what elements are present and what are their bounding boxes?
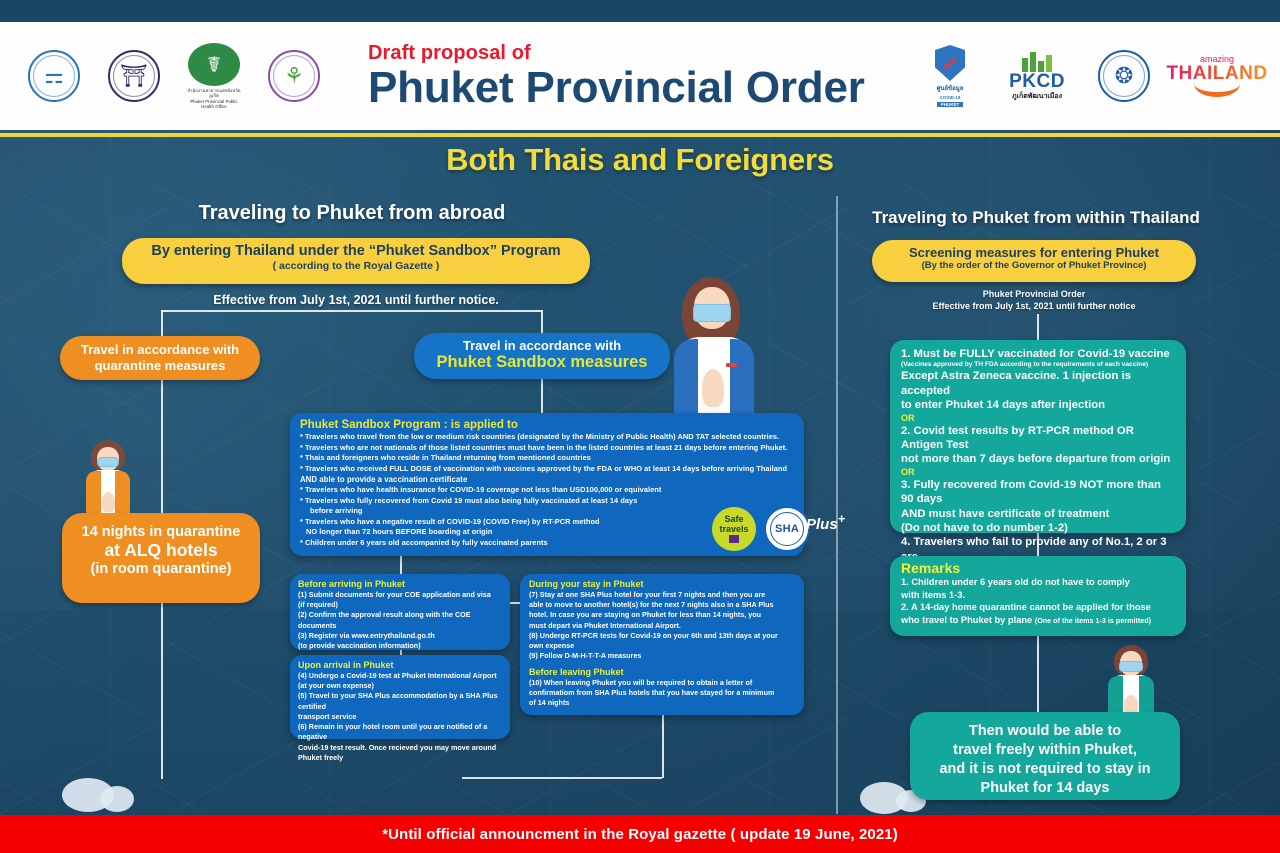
thailand-swoosh-icon (1194, 84, 1240, 97)
connector-vert-quarantine-bottom (161, 603, 163, 778)
list-item: able to move to another hotel(s) for the… (529, 600, 795, 610)
sandbox-program-pill-line2: ( according to the Royal Gazette ) (122, 260, 590, 272)
connector-vert-then-able (1037, 636, 1039, 712)
list-item: (5) Travel to your SHA Plus accommodatio… (298, 691, 502, 711)
quarantine-measures-line1: Travel in accordance with (60, 342, 260, 358)
list-item: (4) Undergo a Covid-19 test at Phuket In… (298, 671, 502, 681)
pkcd-bars-icon (1022, 50, 1052, 72)
before-leaving-title: Before leaving Phuket (529, 667, 795, 677)
list-item: (9) Follow D-M-H-T-T-A measures (529, 651, 795, 661)
list-item: (10) When leaving Phuket you will be req… (529, 678, 795, 688)
quarantine-staff-illustration (78, 440, 138, 518)
sha-badge-icon: SHA (764, 506, 810, 552)
remarks-item-2b: who travel to Phuket by plane (901, 615, 1032, 625)
list-item: of 14 nights (529, 698, 795, 708)
sandbox-measures-line2: Phuket Sandbox measures (414, 353, 670, 371)
screening-pill-line1: Screening measures for entering Phuket (872, 245, 1196, 260)
public-health-seal-icon: ☤ สำนักงานสาธารณสุขจังหวัดภูเก็ตPhuket P… (186, 43, 242, 109)
list-item: must depart via Phuket International Air… (529, 621, 795, 631)
list-item: (8) Undergo RT-PCR tests for Covid-19 on… (529, 631, 795, 641)
connector-vert-before (400, 556, 402, 574)
connector-vert-screening (1037, 314, 1039, 340)
order-note-line2: Effective from July 1st, 2021 until furt… (872, 300, 1196, 312)
quarantine-measures-box: Travel in accordance with quarantine mea… (60, 336, 260, 380)
connector-vert-quarantine (161, 380, 163, 513)
list-item: hotel. In case you are staying on Phuket… (529, 610, 795, 620)
list-item: confirmatiom from SHA Plus hotels that y… (529, 688, 795, 698)
pkcd-logo-icon: PKCD ภูเก็ตพัฒนาเมือง (1006, 43, 1068, 109)
before-arriving-title: Before arriving in Phuket (298, 579, 502, 589)
alq-line2: at ALQ hotels (62, 540, 260, 561)
connector-vert-left-top (161, 310, 163, 336)
safe-travels-building-icon (729, 535, 739, 543)
alq-quarantine-box: 14 nights in quarantine at ALQ hotels (i… (62, 513, 260, 603)
header-bar: ⚎ ⛩ ☤ สำนักงานสาธารณสุขจังหวัดภูเก็ตPhuk… (0, 22, 1280, 130)
list-item: *Travelers who have health insurance for… (300, 485, 794, 496)
royal-thai-seal-icon: ❂ (1096, 43, 1152, 109)
right-order-note: Phuket Provincial Order Effective from J… (872, 288, 1196, 312)
public-health-seal-caption: สำนักงานสาธารณสุขจังหวัดภูเก็ตPhuket Pro… (186, 88, 242, 109)
then-able-line1: Then would be able to (910, 722, 1180, 741)
covid-center-label-en: COVID-19 (940, 95, 961, 100)
screening-measures-pill: Screening measures for entering Phuket (… (872, 240, 1196, 282)
screening-item-3c: (Do not have to do number 1-2) (901, 521, 1176, 535)
list-item: own expense (529, 641, 795, 651)
remarks-panel: Remarks 1. Children under 6 years old do… (890, 556, 1186, 636)
remarks-item-2-row: who travel to Phuket by plane (One of th… (901, 614, 1176, 626)
column-divider (836, 196, 838, 814)
screening-item-3: 3. Fully recovered from Covid-19 NOT mor… (901, 478, 1176, 507)
screening-item-1b: Except Astra Zeneca vaccine. 1 injection… (901, 369, 1176, 398)
quarantine-measures-line2: quarantine measures (60, 358, 260, 374)
safe-travels-line2: travels (719, 525, 748, 534)
during-stay-panel: During your stay in Phuket (7) Stay at o… (520, 574, 804, 715)
list-item: (at your own expense) (298, 681, 502, 691)
list-item: Phuket freely (298, 753, 502, 763)
sandbox-program-pill-line1: By entering Thailand under the “Phuket S… (122, 243, 590, 259)
screening-item-2b: not more than 7 days before departure fr… (901, 452, 1176, 466)
sha-plus-label: Plus+ (806, 512, 845, 533)
then-able-line4: Phuket for 14 days (910, 779, 1180, 798)
list-item: *Thais and foreigners who reside in Thai… (300, 453, 794, 464)
remarks-item-1b: with items 1-3. (901, 589, 1176, 601)
alq-line3: (in room quarantine) (62, 561, 260, 577)
phuket-city-seal-icon: ⚘ (266, 43, 322, 109)
upon-arrival-list: (4) Undergo a Covid-19 test at Phuket In… (298, 671, 502, 763)
thailand-label: THAILAND (1166, 64, 1267, 83)
connector-node-bottom-left (161, 777, 163, 779)
connector-vert-right-top (541, 310, 543, 333)
connector-horiz-during (510, 602, 520, 604)
then-able-to-travel-box: Then would be able to travel freely with… (910, 712, 1180, 800)
list-item: (6) Remain in your hotel room until you … (298, 722, 502, 742)
list-item: (7) Stay at one SHA Plus hotel for your … (529, 590, 795, 600)
list-item: AND able to provide a vaccination certif… (300, 474, 794, 485)
welcome-staff-illustration (668, 277, 758, 415)
infographic-page: ⚎ ⛩ ☤ สำนักงานสาธารณสุขจังหวัดภูเก็ตPhuk… (0, 0, 1280, 853)
list-item: (if required) (298, 600, 502, 610)
sandbox-measures-line1: Travel in accordance with (414, 338, 670, 353)
list-item: *Travelers who received FULL DOSE of vac… (300, 464, 794, 475)
connector-vert-sandbox (541, 379, 543, 413)
before-arriving-list: (1) Submit documents for your COE applic… (298, 590, 502, 651)
connector-vert-to-provinces (662, 715, 664, 778)
during-stay-title: During your stay in Phuket (529, 579, 795, 589)
banner-rule (0, 133, 1280, 137)
covid-center-label-phuket: PHUKET (937, 102, 964, 107)
before-leaving-list: (10) When leaving Phuket you will be req… (529, 678, 795, 709)
remarks-item-2-fine: (One of the items 1-3 is permitted) (1035, 616, 1151, 625)
draft-label: Draft proposal of (368, 42, 865, 65)
remarks-item-1: 1. Children under 6 years old do not hav… (901, 576, 1176, 588)
list-item: transport service (298, 712, 502, 722)
then-able-line2: travel freely within Phuket, (910, 741, 1180, 760)
screening-or-2: OR (901, 467, 1176, 478)
before-arriving-panel: Before arriving in Phuket (1) Submit doc… (290, 574, 510, 650)
top-strip (0, 0, 1280, 22)
list-item: Covid-19 test result. Once recieved you … (298, 743, 502, 753)
connector-horiz-to-provinces (462, 777, 662, 779)
sandbox-program-panel-title: Phuket Sandbox Program : is applied to (300, 419, 794, 431)
title-block: Draft proposal of Phuket Provincial Orde… (368, 42, 865, 111)
pkcd-sublabel: ภูเก็ตพัฒนาเมือง (1012, 91, 1062, 102)
screening-or-1: OR (901, 413, 1176, 424)
cloud-decoration-left-2 (100, 786, 134, 812)
left-logo-row: ⚎ ⛩ ☤ สำนักงานสาธารณสุขจังหวัดภูเก็ตPhuk… (0, 43, 322, 109)
banner-title: Both Thais and Foreigners (0, 142, 1280, 178)
footer-note: *Until official announcment in the Royal… (382, 826, 898, 843)
pkcd-label: PKCD (1009, 72, 1065, 91)
list-item: (to provide vaccination information) (298, 641, 502, 651)
list-item: (3) Register via www.entrythailand.go.th (298, 631, 502, 641)
left-column-heading: Traveling to Phuket from abroad (128, 202, 576, 225)
screening-pill-line2: (By the order of the Governor of Phuket … (872, 260, 1196, 271)
page-title: Phuket Provincial Order (368, 65, 865, 111)
screening-requirements-panel: 1. Must be FULLY vaccinated for Covid-19… (890, 340, 1186, 533)
covid-info-center-shield-icon: ศูนย์ข้อมูล COVID-19 PHUKET (922, 43, 978, 109)
covid-center-label-th: ศูนย์ข้อมูล (937, 83, 964, 93)
upon-arrival-panel: Upon arrival in Phuket (4) Undergo a Cov… (290, 655, 510, 739)
screening-item-1c: to enter Phuket 14 days after injection (901, 398, 1176, 412)
list-item: (1) Submit documents for your COE applic… (298, 590, 502, 600)
teal-staff-illustration (1100, 645, 1162, 717)
screening-item-3b: AND must have certificate of treatment (901, 507, 1176, 521)
ministry-seal-icon: ⛩ (106, 43, 162, 109)
remarks-item-2: 2. A 14-day home quarantine cannot be ap… (901, 601, 1176, 613)
safe-travels-badge-icon: Safe travels (712, 507, 756, 551)
list-item: *Travelers who are not nationals of thos… (300, 443, 794, 454)
screening-item-1: 1. Must be FULLY vaccinated for Covid-19… (901, 347, 1176, 361)
phuket-province-seal-icon: ⚎ (26, 43, 82, 109)
then-able-line3: and it is not required to stay in (910, 760, 1180, 779)
sandbox-measures-box: Travel in accordance with Phuket Sandbox… (414, 333, 670, 379)
during-stay-list: (7) Stay at one SHA Plus hotel for your … (529, 590, 795, 662)
list-item: *Travelers who travel from the low or me… (300, 432, 794, 443)
list-item: *Travelers who fully recovered from Covi… (300, 496, 794, 507)
right-column-heading: Traveling to Phuket from within Thailand (856, 208, 1216, 228)
upon-arrival-title: Upon arrival in Phuket (298, 660, 502, 670)
remarks-title: Remarks (901, 561, 1176, 576)
amazing-thailand-logo-icon: amazing THAILAND (1180, 43, 1254, 109)
right-logo-row: ศูนย์ข้อมูล COVID-19 PHUKET PKCD ภูเก็ตพ… (922, 43, 1280, 109)
alq-line1: 14 nights in quarantine (62, 524, 260, 540)
connector-horiz-branch (161, 310, 542, 312)
screening-item-2: 2. Covid test results by RT-PCR method O… (901, 424, 1176, 453)
order-note-line1: Phuket Provincial Order (872, 288, 1196, 300)
left-effective-note: Effective from July 1st, 2021 until furt… (122, 293, 590, 307)
sandbox-program-pill: By entering Thailand under the “Phuket S… (122, 238, 590, 284)
list-item: (2) Confirm the approval result along wi… (298, 610, 502, 630)
footer-note-bar: *Until official announcment in the Royal… (0, 815, 1280, 853)
screening-item-1-fine: (Vaccines approved by TH FDA according t… (901, 361, 1176, 369)
